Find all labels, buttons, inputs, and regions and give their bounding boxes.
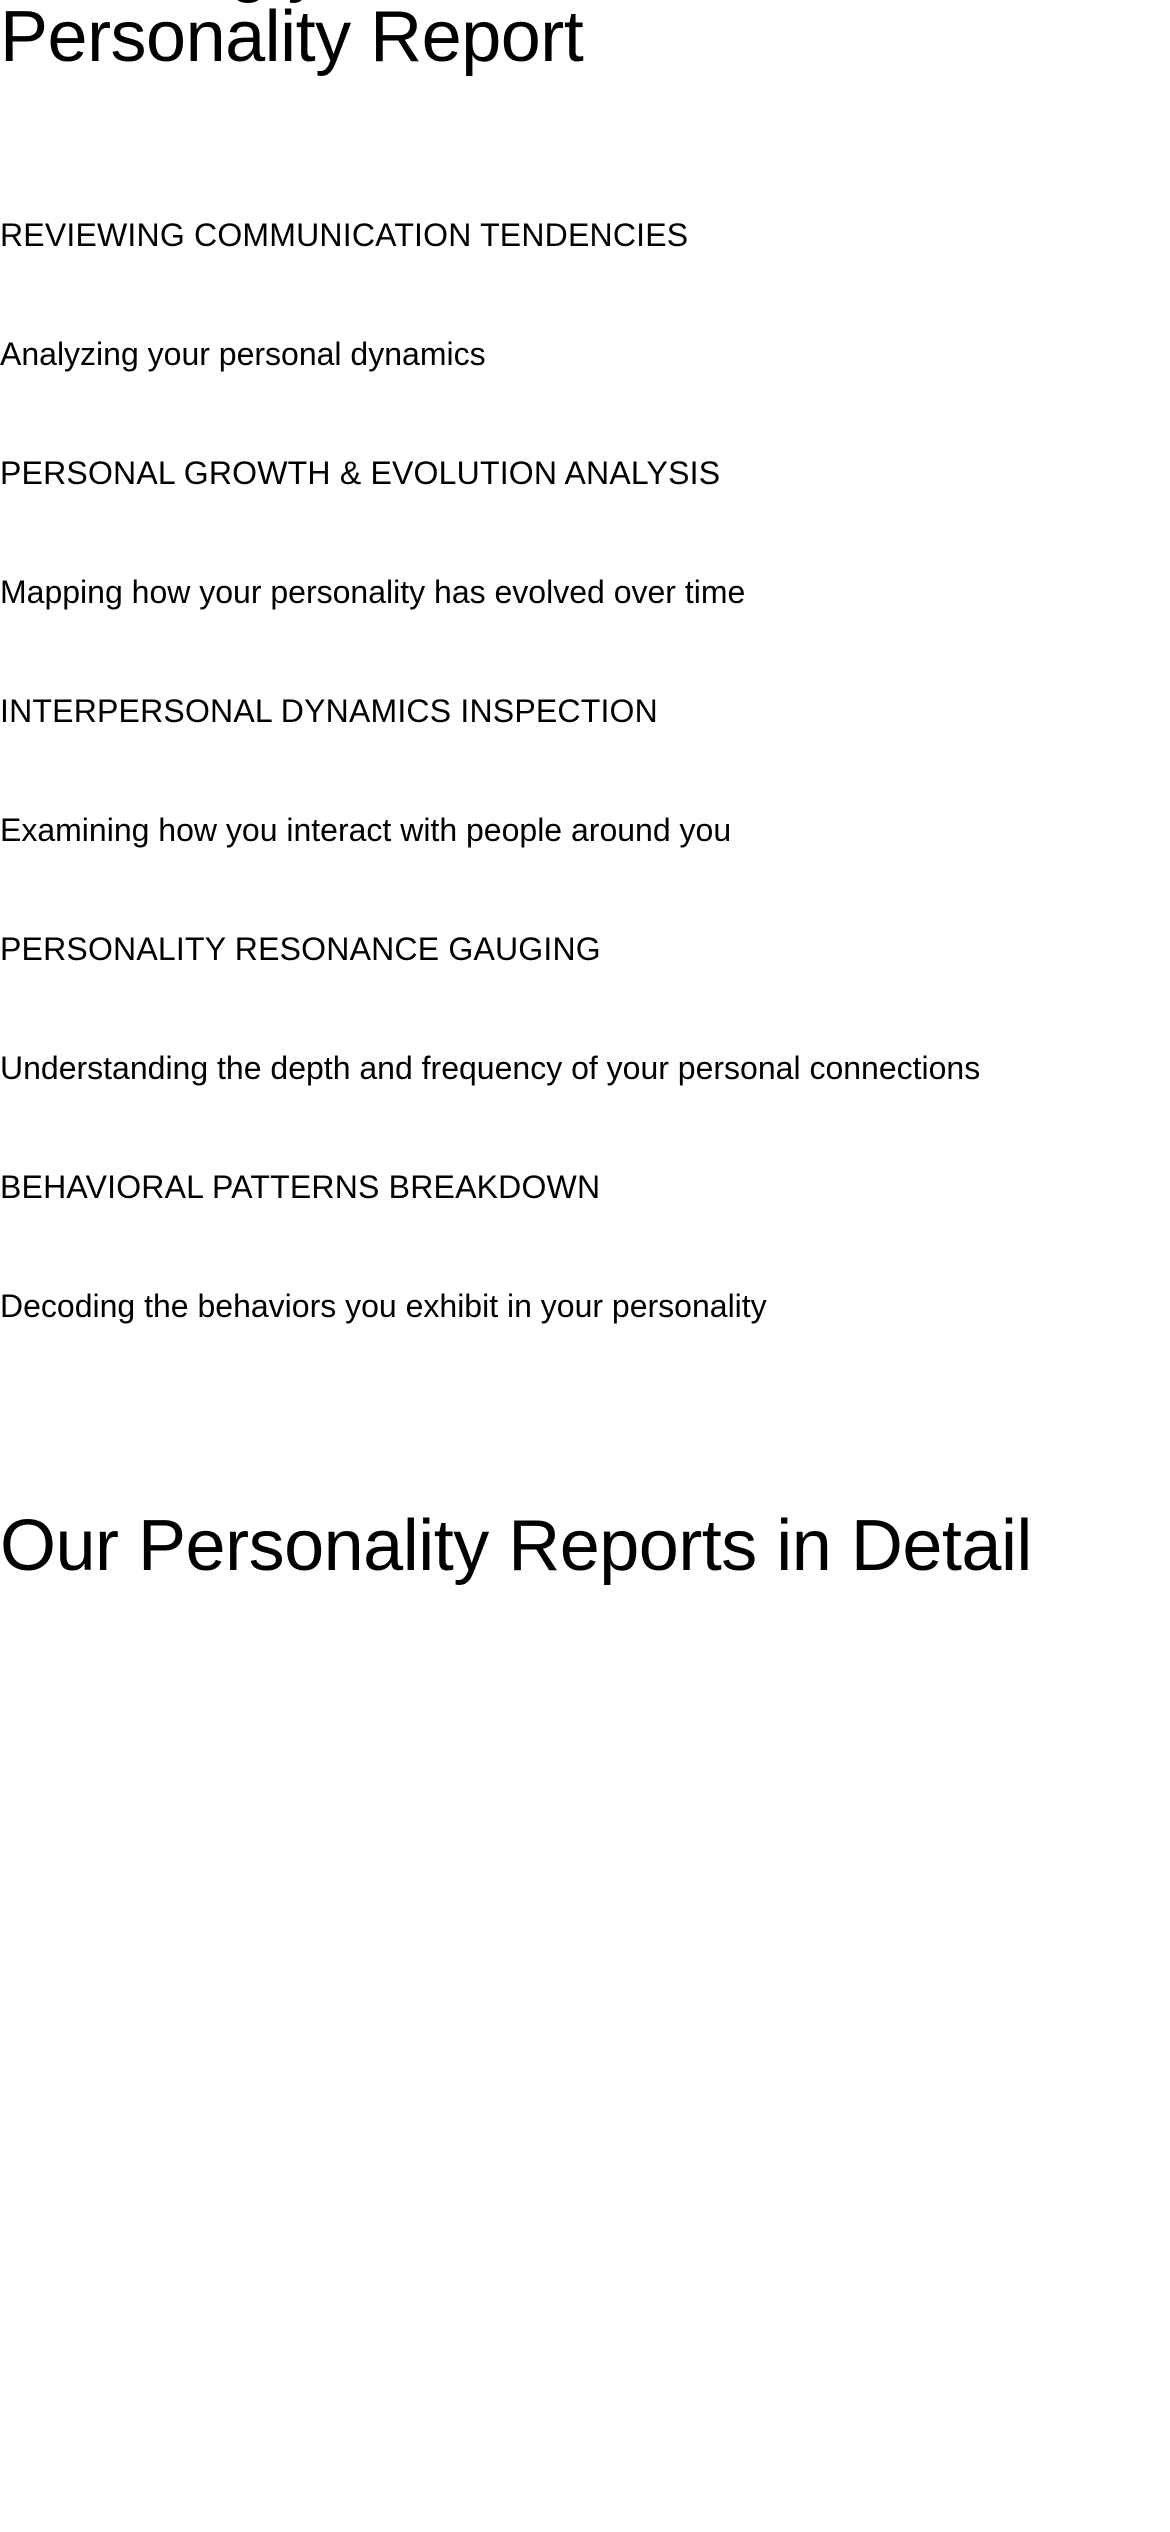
spacer-label bbox=[0, 968, 1170, 1045]
step-label: REVIEWING COMMUNICATION TENDENCIES bbox=[0, 216, 1170, 254]
list-item: BEHAVIORAL PATTERNS BREAKDOWN Decoding t… bbox=[0, 1168, 1170, 1330]
spacer-label bbox=[0, 1206, 1170, 1283]
spacer-step bbox=[0, 854, 1170, 930]
list-item: REVIEWING COMMUNICATION TENDENCIES Analy… bbox=[0, 216, 1170, 378]
spacer-step bbox=[0, 616, 1170, 692]
step-label: PERSONALITY RESONANCE GAUGING bbox=[0, 930, 1170, 968]
step-label: INTERPERSONAL DYNAMICS INSPECTION bbox=[0, 692, 1170, 730]
analysis-steps-list: REVIEWING COMMUNICATION TENDENCIES Analy… bbox=[0, 216, 1170, 1330]
page-title: Creating your Personalized Personality R… bbox=[0, 0, 1170, 74]
step-label: BEHAVIORAL PATTERNS BREAKDOWN bbox=[0, 1168, 1170, 1206]
list-item: PERSONAL GROWTH & EVOLUTION ANALYSIS Map… bbox=[0, 454, 1170, 616]
spacer-step bbox=[0, 378, 1170, 454]
spacer-title bbox=[0, 74, 1170, 216]
step-description: Mapping how your personality has evolved… bbox=[0, 569, 1170, 616]
spacer-label bbox=[0, 492, 1170, 569]
spacer-closing bbox=[0, 1330, 1170, 1510]
step-description: Examining how you interact with people a… bbox=[0, 807, 1170, 854]
list-item: INTERPERSONAL DYNAMICS INSPECTION Examin… bbox=[0, 692, 1170, 854]
step-description: Analyzing your personal dynamics bbox=[0, 331, 1170, 378]
closing-section-title: Our Personality Reports in Detail bbox=[0, 1510, 1170, 1583]
step-label: PERSONAL GROWTH & EVOLUTION ANALYSIS bbox=[0, 454, 1170, 492]
step-description: Decoding the behaviors you exhibit in yo… bbox=[0, 1283, 1170, 1330]
spacer-step bbox=[0, 1092, 1170, 1168]
spacer-label bbox=[0, 730, 1170, 807]
spacer-label bbox=[0, 254, 1170, 331]
step-description: Understanding the depth and frequency of… bbox=[0, 1045, 1170, 1092]
report-generation-page: Creating your Personalized Personality R… bbox=[0, 0, 1170, 1583]
list-item: PERSONALITY RESONANCE GAUGING Understand… bbox=[0, 930, 1170, 1092]
